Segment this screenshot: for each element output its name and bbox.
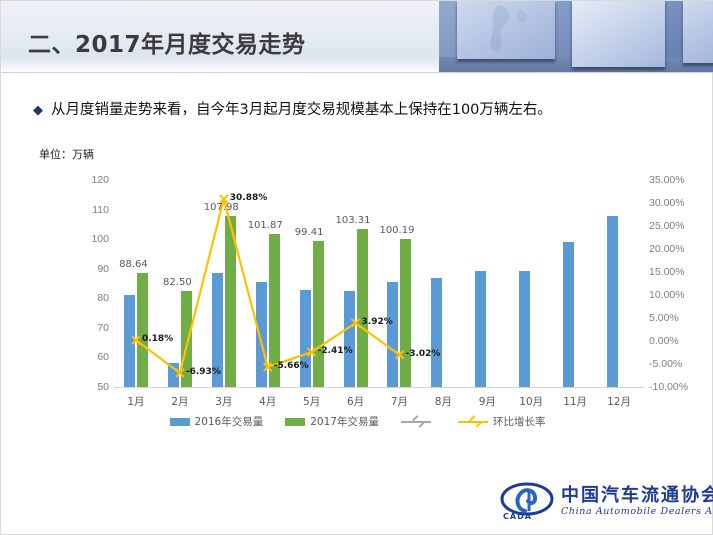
logo-abbr: CADA — [503, 512, 532, 521]
x-axis-tick: 6月 — [347, 394, 364, 409]
y-axis-tick: 100 — [77, 233, 109, 245]
line-marker — [132, 336, 140, 344]
y-axis-tick: 70 — [77, 322, 109, 334]
page-title: 二、2017年月度交易走势 — [28, 25, 306, 59]
logo-chinese-name: 中国汽车流通协会 — [561, 481, 713, 507]
plot-area: 88.6482.50107.98101.8799.41103.31100.19 … — [114, 180, 641, 387]
line-data-label: 3.92% — [362, 317, 393, 327]
header-decoration-cubes — [439, 1, 713, 73]
diamond-bullet-icon: ◆ — [33, 101, 43, 119]
bar-data-label: 101.87 — [248, 220, 283, 231]
x-axis-tick: 9月 — [479, 394, 496, 409]
line-marker — [395, 351, 403, 359]
y-axis-secondary-tick: 5.00% — [649, 312, 707, 324]
bar-data-label: 82.50 — [163, 277, 192, 288]
bullet-text: 从月度销量走势来看，自今年3月起月度交易规模基本上保持在100万辆左右。 — [51, 101, 552, 120]
x-axis-tick: 8月 — [435, 394, 452, 409]
legend-swatch-icon — [285, 418, 305, 426]
axis-baseline — [114, 387, 644, 388]
y-axis-tick: 120 — [77, 174, 109, 186]
legend-label: 2016年交易量 — [195, 414, 264, 429]
legend-line-icon — [458, 416, 488, 427]
line-data-label: -5.66% — [274, 361, 309, 371]
line-series-layer — [114, 180, 641, 387]
y-axis-tick: 80 — [77, 292, 109, 304]
y-axis-secondary-tick: 25.00% — [649, 220, 707, 232]
legend-item[interactable]: 环比增长率 — [458, 414, 546, 429]
x-axis-tick: 1月 — [127, 394, 144, 409]
line-data-label: 30.88% — [230, 193, 268, 203]
world-map-icon — [477, 3, 537, 55]
y-axis-secondary-tick: 0.00% — [649, 335, 707, 347]
line-data-label: -2.41% — [318, 346, 353, 356]
line-data-label: 0.18% — [142, 334, 173, 344]
cube-left — [457, 1, 555, 59]
bar-data-label: 100.19 — [379, 225, 414, 236]
line-marker — [352, 319, 360, 327]
bar-data-label: 103.31 — [336, 215, 371, 226]
logo-english-name: China Automobile Dealers Association — [561, 506, 713, 517]
bar-data-label: 107.98 — [204, 202, 239, 213]
line-data-label: -3.02% — [405, 349, 440, 359]
x-axis-tick: 4月 — [259, 394, 276, 409]
legend-item[interactable] — [401, 416, 436, 427]
monthly-trend-chart: 5060708090100110120 -10.00%-5.00%0.00%5.… — [1, 166, 713, 451]
chart-legend: 2016年交易量2017年交易量环比增长率 — [1, 414, 713, 429]
bar-data-label: 99.41 — [295, 227, 324, 238]
bar-data-label: 88.64 — [119, 259, 148, 270]
y-axis-tick: 50 — [77, 381, 109, 393]
legend-label: 环比增长率 — [493, 414, 546, 429]
organization-logo: CADA 中国汽车流通协会 China Automobile Dealers A… — [499, 479, 699, 529]
y-axis-tick: 90 — [77, 263, 109, 275]
y-axis-secondary-tick: -10.00% — [649, 381, 707, 393]
x-axis-tick: 2月 — [171, 394, 188, 409]
legend-item[interactable]: 2017年交易量 — [285, 414, 379, 429]
line-data-label: -6.93% — [186, 367, 221, 377]
slide-header: 二、2017年月度交易走势 — [1, 1, 713, 73]
cube-right — [683, 1, 713, 63]
x-axis-tick: 11月 — [563, 394, 587, 409]
x-axis-tick: 12月 — [607, 394, 631, 409]
x-axis-tick: 10月 — [519, 394, 543, 409]
bullet-row: ◆ 从月度销量走势来看，自今年3月起月度交易规模基本上保持在100万辆左右。 — [33, 101, 683, 120]
y-axis-secondary-tick: -5.00% — [649, 358, 707, 370]
legend-label: 2017年交易量 — [310, 414, 379, 429]
legend-item[interactable]: 2016年交易量 — [170, 414, 264, 429]
legend-swatch-icon — [170, 418, 190, 426]
cube-center — [572, 1, 665, 67]
y-axis-secondary-tick: 15.00% — [649, 266, 707, 278]
y-axis-secondary-tick: 30.00% — [649, 197, 707, 209]
y-axis-secondary-tick: 35.00% — [649, 174, 707, 186]
x-axis-tick: 5月 — [303, 394, 320, 409]
y-axis-tick: 110 — [77, 204, 109, 216]
y-axis-tick: 60 — [77, 351, 109, 363]
legend-line-icon — [401, 416, 431, 427]
y-axis-secondary-tick: 10.00% — [649, 289, 707, 301]
y-axis-secondary-tick: 20.00% — [649, 243, 707, 255]
unit-label: 单位：万辆 — [39, 146, 94, 162]
slide: 二、2017年月度交易走势 ◆ 从月度销量走势来看，自今年3月起月度交易规模基本… — [0, 0, 713, 535]
header-divider — [1, 72, 713, 73]
x-axis-tick: 7月 — [391, 394, 408, 409]
x-axis-tick: 3月 — [215, 394, 232, 409]
